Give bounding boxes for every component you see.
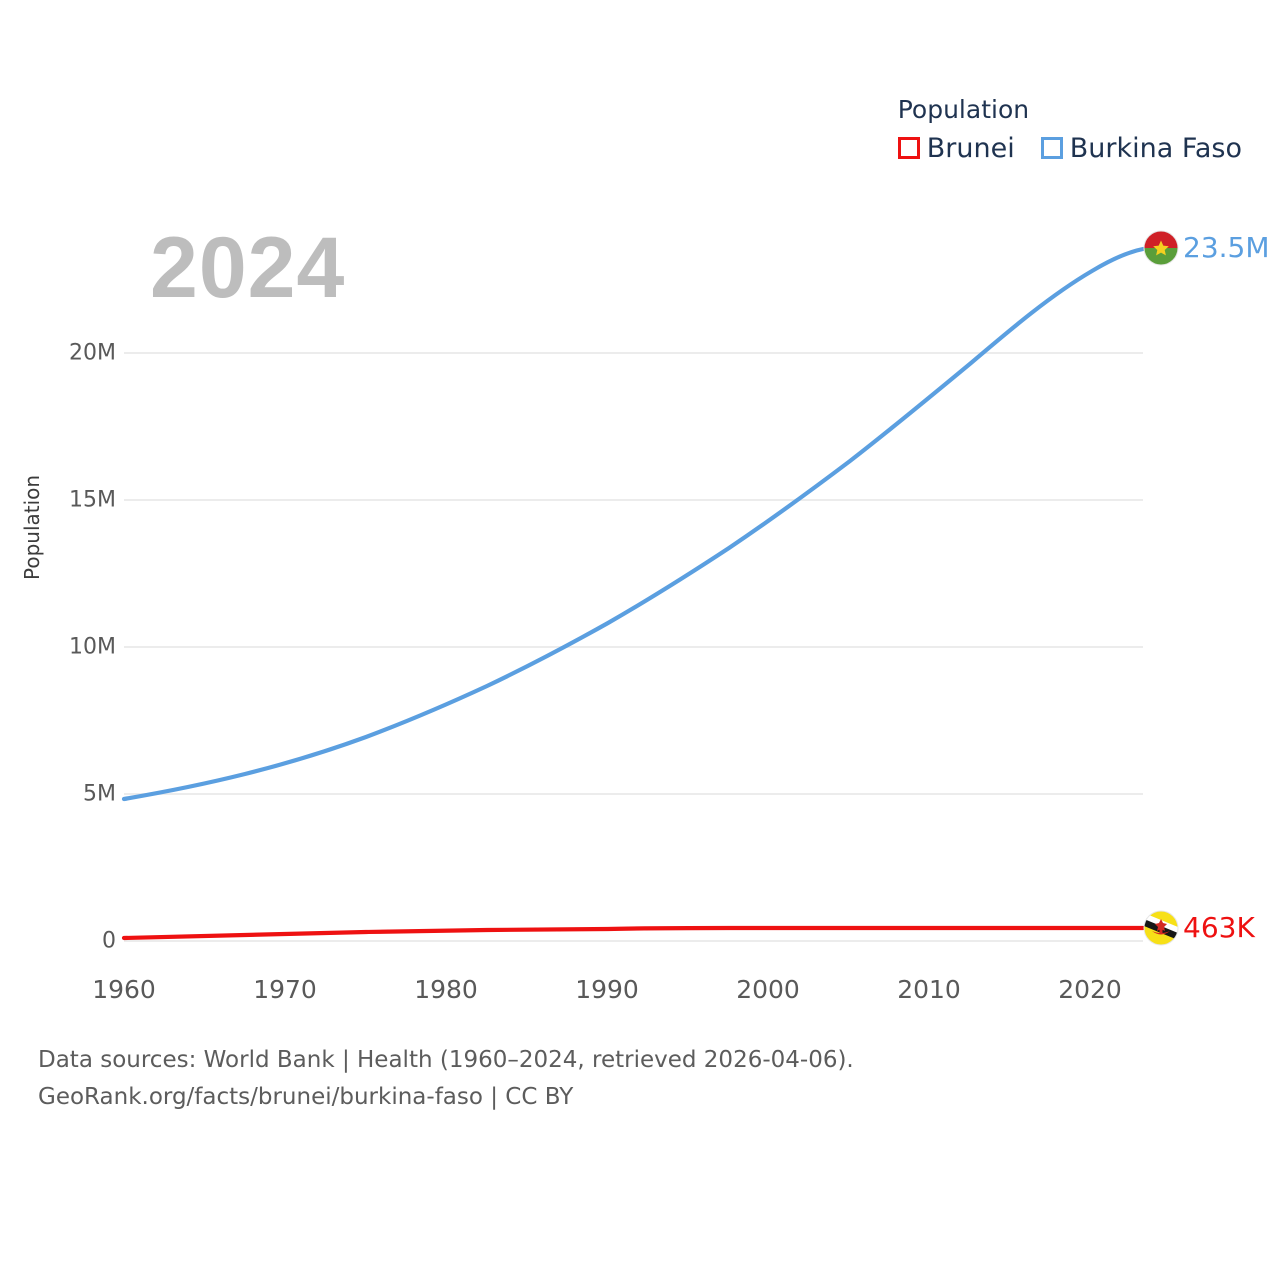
series-line-brunei bbox=[124, 928, 1143, 938]
ytick-label-5M: 5M bbox=[52, 782, 116, 807]
endpoint-label-burkina-faso: 23.5M bbox=[1183, 234, 1270, 262]
series-line-burkina-faso bbox=[124, 249, 1143, 799]
burkina-faso-flag-marker[interactable] bbox=[1144, 231, 1178, 265]
footer-line-url: GeoRank.org/facts/brunei/burkina-faso | … bbox=[38, 1079, 854, 1116]
y-axis-label: Population bbox=[20, 475, 44, 580]
xtick-label-2000: 2000 bbox=[736, 975, 800, 1004]
ytick-label-0: 0 bbox=[52, 929, 116, 954]
xtick-label-1980: 1980 bbox=[414, 975, 478, 1004]
footer-attribution: Data sources: World Bank | Health (1960–… bbox=[38, 1042, 854, 1117]
ytick-label-10M: 10M bbox=[52, 635, 116, 660]
gridlines bbox=[124, 353, 1143, 941]
xtick-label-2010: 2010 bbox=[897, 975, 961, 1004]
endpoint-label-brunei: 463K bbox=[1183, 914, 1255, 942]
xtick-label-1990: 1990 bbox=[575, 975, 639, 1004]
ytick-label-20M: 20M bbox=[52, 341, 116, 366]
xtick-label-2020: 2020 bbox=[1058, 975, 1122, 1004]
xtick-label-1960: 1960 bbox=[92, 975, 156, 1004]
ytick-label-15M: 15M bbox=[52, 488, 116, 513]
brunei-flag-marker[interactable] bbox=[1144, 911, 1178, 945]
footer-line-sources: Data sources: World Bank | Health (1960–… bbox=[38, 1042, 854, 1079]
xtick-label-1970: 1970 bbox=[253, 975, 317, 1004]
